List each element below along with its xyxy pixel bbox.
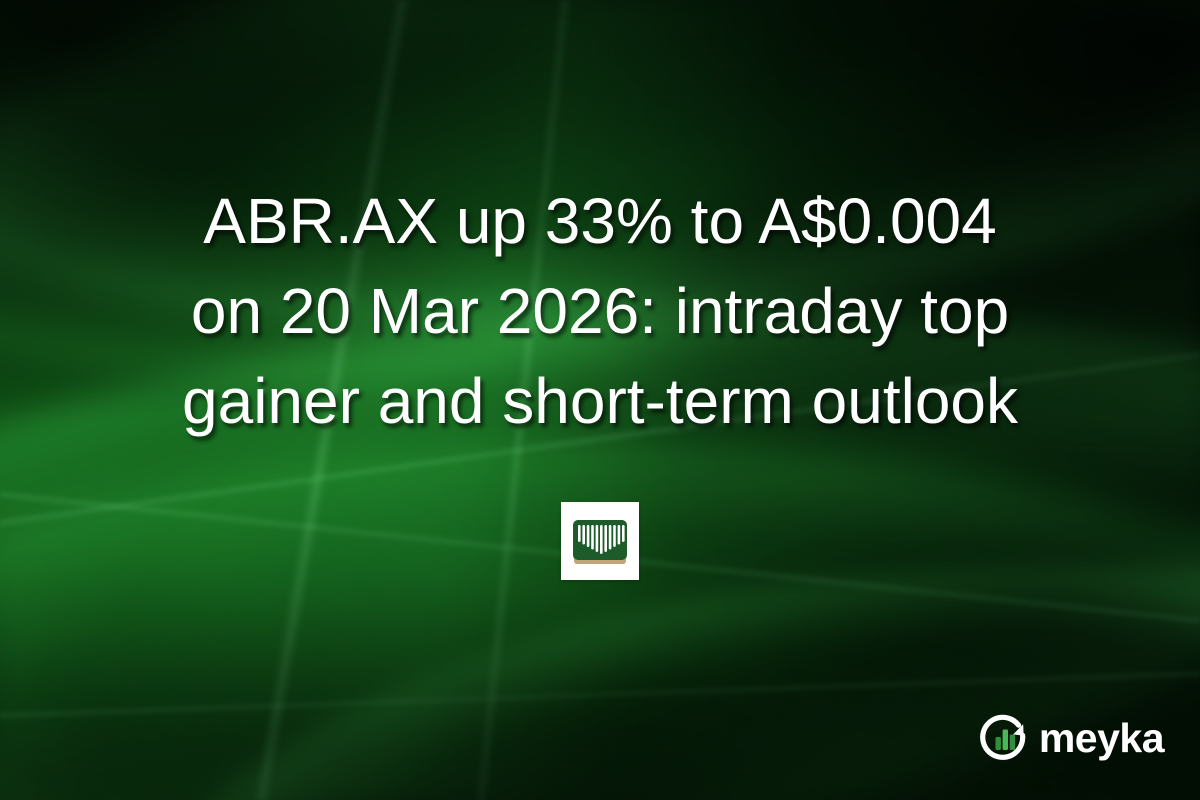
- brand-name-text: meyka: [1039, 718, 1164, 759]
- meyka-circular-bars-logo-icon: [978, 712, 1030, 764]
- kalimba-logo-icon: [572, 516, 628, 566]
- headline-text: ABR.AX up 33% to A$0.004 on 20 Mar 2026:…: [0, 176, 1200, 446]
- brand-lockup: meyka: [978, 712, 1164, 764]
- article-logo-tile: [561, 502, 639, 580]
- card-content: ABR.AX up 33% to A$0.004 on 20 Mar 2026:…: [0, 0, 1200, 800]
- social-share-card: ABR.AX up 33% to A$0.004 on 20 Mar 2026:…: [0, 0, 1200, 800]
